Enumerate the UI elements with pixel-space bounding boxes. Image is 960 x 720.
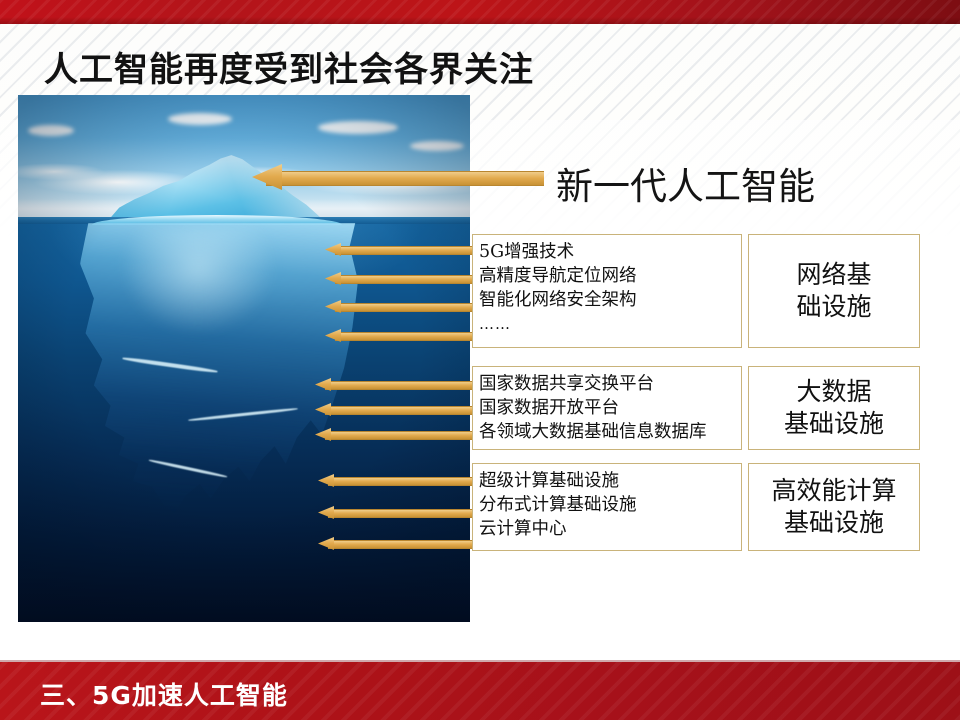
detail-item: 分布式计算基础设施 bbox=[479, 493, 737, 517]
arrow-head-icon bbox=[315, 428, 331, 441]
arrow-head-icon bbox=[252, 164, 282, 190]
arrow-group1-3 bbox=[325, 300, 475, 313]
arrow-head-icon bbox=[318, 537, 334, 550]
arrow-group2-3 bbox=[315, 428, 475, 441]
arrow-shaft bbox=[335, 275, 475, 284]
arrow-group2-2 bbox=[315, 403, 475, 416]
detail-list-group2: 国家数据共享交换平台 国家数据开放平台 各领域大数据基础信息数据库 bbox=[479, 372, 737, 444]
arrow-head-icon bbox=[315, 403, 331, 416]
arrow-shaft bbox=[325, 381, 475, 390]
detail-box-group2: 国家数据共享交换平台 国家数据开放平台 各领域大数据基础信息数据库 bbox=[472, 366, 742, 450]
arrow-group3-1 bbox=[318, 474, 475, 487]
detail-item: 超级计算基础设施 bbox=[479, 469, 737, 493]
arrow-group1-1 bbox=[325, 243, 475, 256]
arrow-head-icon bbox=[325, 300, 341, 313]
detail-item: 国家数据开放平台 bbox=[479, 396, 737, 420]
arrow-shaft bbox=[328, 477, 475, 486]
arrow-shaft bbox=[328, 540, 475, 549]
arrow-shaft bbox=[325, 431, 475, 440]
detail-list-group1: 5G增强技术 高精度导航定位网络 智能化网络安全架构 …… bbox=[479, 240, 737, 336]
arrow-head-icon bbox=[325, 243, 341, 256]
label-box-group2: 大数据 基础设施 bbox=[748, 366, 920, 450]
detail-item: 各领域大数据基础信息数据库 bbox=[479, 420, 737, 444]
arrow-shaft bbox=[335, 246, 475, 255]
arrow-head-icon bbox=[325, 272, 341, 285]
label-text: 大数据 基础设施 bbox=[784, 376, 884, 440]
arrow-group1-2 bbox=[325, 272, 475, 285]
detail-item: 云计算中心 bbox=[479, 517, 737, 541]
arrow-head-icon bbox=[315, 378, 331, 391]
arrow-head-icon bbox=[318, 474, 334, 487]
arrow-shaft bbox=[266, 171, 544, 186]
label-text: 高效能计算 基础设施 bbox=[771, 475, 896, 539]
headline-new-generation-ai: 新一代人工智能 bbox=[556, 156, 815, 210]
detail-item: 智能化网络安全架构 bbox=[479, 288, 737, 312]
slide-canvas: 人工智能再度受到社会各界关注 新一代人工智能 bbox=[0, 0, 960, 720]
footer-section-title: 三、5G加速人工智能 bbox=[40, 676, 288, 712]
detail-box-group3: 超级计算基础设施 分布式计算基础设施 云计算中心 bbox=[472, 463, 742, 551]
arrow-group1-4 bbox=[325, 329, 475, 342]
arrow-head-icon bbox=[325, 329, 341, 342]
arrow-shaft bbox=[335, 332, 475, 341]
arrow-head-icon bbox=[318, 506, 334, 519]
arrow-new-generation-ai bbox=[252, 164, 544, 190]
arrow-group3-3 bbox=[318, 537, 475, 550]
detail-box-group1: 5G增强技术 高精度导航定位网络 智能化网络安全架构 …… bbox=[472, 234, 742, 348]
label-box-group1: 网络基 础设施 bbox=[748, 234, 920, 348]
page-title: 人工智能再度受到社会各界关注 bbox=[44, 42, 534, 91]
arrow-shaft bbox=[335, 303, 475, 312]
label-text: 网络基 础设施 bbox=[796, 259, 871, 323]
arrow-shaft bbox=[325, 406, 475, 415]
arrow-group2-1 bbox=[315, 378, 475, 391]
arrow-shaft bbox=[328, 509, 475, 518]
top-red-bar bbox=[0, 0, 960, 24]
detail-item: 高精度导航定位网络 bbox=[479, 264, 737, 288]
detail-list-group3: 超级计算基础设施 分布式计算基础设施 云计算中心 bbox=[479, 469, 737, 541]
detail-item: 国家数据共享交换平台 bbox=[479, 372, 737, 396]
detail-ellipsis: …… bbox=[479, 312, 737, 336]
arrow-group3-2 bbox=[318, 506, 475, 519]
detail-item: 5G增强技术 bbox=[479, 240, 737, 264]
label-box-group3: 高效能计算 基础设施 bbox=[748, 463, 920, 551]
top-bar-shadow bbox=[0, 17, 960, 24]
